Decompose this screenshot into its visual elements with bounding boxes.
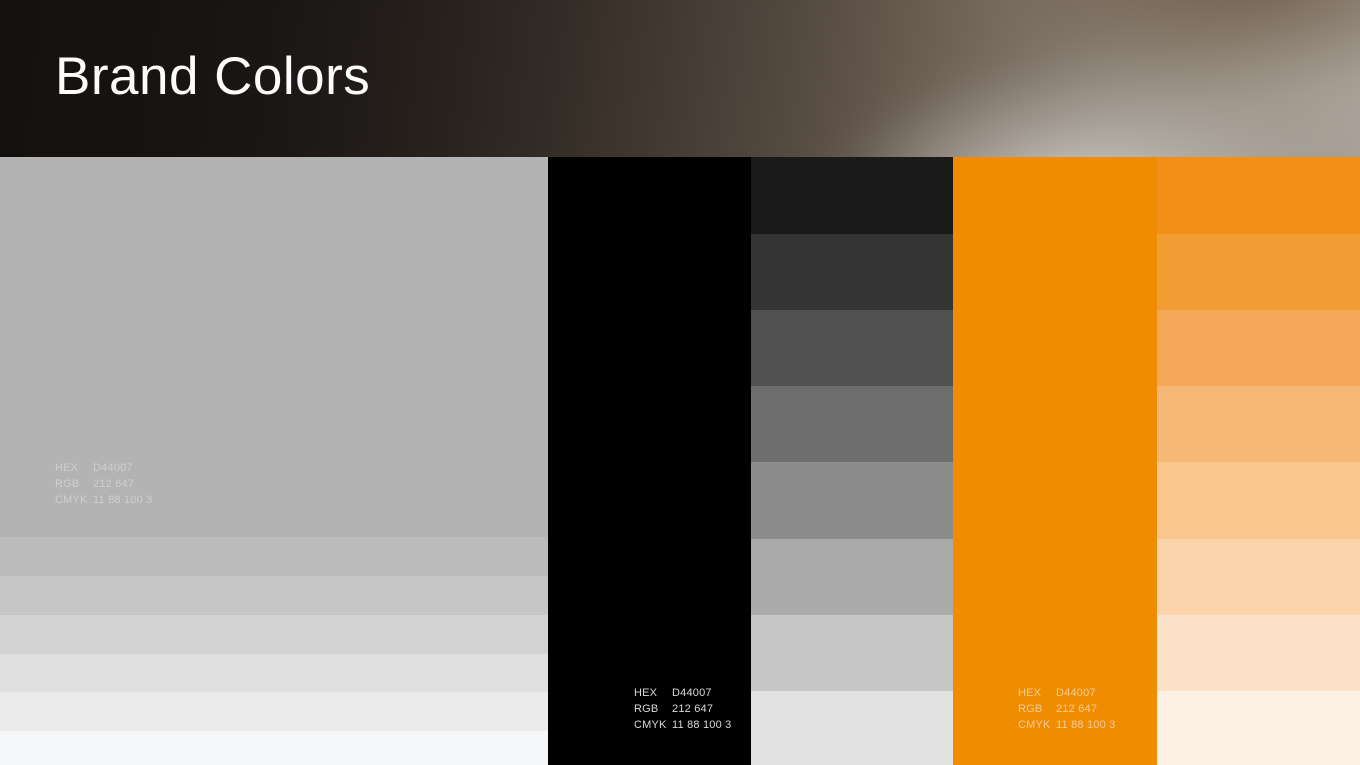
- rgb-label: RGB: [1018, 701, 1056, 717]
- rgb-value: 212 647: [1056, 701, 1097, 717]
- swatch-info-cmyk-row: CMYK 11 88 100 3: [634, 717, 732, 733]
- rgb-value: 212 647: [672, 701, 713, 717]
- cmyk-value: 11 88 100 3: [1056, 717, 1116, 733]
- swatch-band: [751, 691, 953, 765]
- hex-value: D44007: [672, 685, 712, 701]
- swatch-band: [751, 310, 953, 386]
- swatch-column-black: [548, 157, 751, 765]
- swatch-band: [953, 157, 1157, 765]
- hex-value: D44007: [93, 460, 133, 476]
- cmyk-label: CMYK: [55, 492, 93, 508]
- swatch-band: [0, 537, 548, 576]
- swatch-info-black: HEX D44007 RGB 212 647 CMYK 11 88 100 3: [634, 685, 732, 733]
- swatch-info-hex-row: HEX D44007: [1018, 685, 1116, 701]
- swatch-band: [0, 615, 548, 654]
- page-title: Brand Colors: [55, 50, 370, 103]
- swatch-band: [0, 731, 548, 765]
- swatch-column-orange-ramp: [1157, 157, 1360, 765]
- swatch-info-hex-row: HEX D44007: [634, 685, 732, 701]
- swatch-band: [0, 576, 548, 615]
- swatch-column-gray-ramp: [751, 157, 953, 765]
- cmyk-label: CMYK: [634, 717, 672, 733]
- swatch-band: [751, 615, 953, 691]
- swatch-info-hex-row: HEX D44007: [55, 460, 153, 476]
- hex-label: HEX: [1018, 685, 1056, 701]
- color-swatch-board: [0, 157, 1360, 765]
- swatch-band: [751, 157, 953, 234]
- swatch-band: [0, 654, 548, 692]
- swatch-info-cmyk-row: CMYK 11 88 100 3: [55, 492, 153, 508]
- cmyk-value: 11 88 100 3: [93, 492, 153, 508]
- hex-label: HEX: [634, 685, 672, 701]
- rgb-label: RGB: [55, 476, 93, 492]
- swatch-column-orange: [953, 157, 1157, 765]
- swatch-band: [1157, 539, 1360, 615]
- brand-colors-slide: Brand Colors HEX D44007 RGB 212 647 CMYK…: [0, 0, 1360, 765]
- swatch-info-rgb-row: RGB 212 647: [55, 476, 153, 492]
- swatch-band: [751, 386, 953, 462]
- rgb-label: RGB: [634, 701, 672, 717]
- swatch-band: [751, 539, 953, 615]
- swatch-band: [1157, 462, 1360, 539]
- swatch-band: [1157, 615, 1360, 691]
- hex-label: HEX: [55, 460, 93, 476]
- swatch-info-rgb-row: RGB 212 647: [634, 701, 732, 717]
- swatch-band: [548, 157, 751, 765]
- swatch-band: [1157, 234, 1360, 310]
- swatch-band: [1157, 691, 1360, 765]
- hex-value: D44007: [1056, 685, 1096, 701]
- swatch-band: [0, 692, 548, 731]
- slide-header: Brand Colors: [0, 0, 1360, 157]
- swatch-band: [1157, 310, 1360, 386]
- swatch-info-orange: HEX D44007 RGB 212 647 CMYK 11 88 100 3: [1018, 685, 1116, 733]
- swatch-info-rgb-row: RGB 212 647: [1018, 701, 1116, 717]
- swatch-info-gray: HEX D44007 RGB 212 647 CMYK 11 88 100 3: [55, 460, 153, 508]
- cmyk-label: CMYK: [1018, 717, 1056, 733]
- swatch-band: [751, 234, 953, 310]
- swatch-band: [1157, 386, 1360, 462]
- swatch-info-cmyk-row: CMYK 11 88 100 3: [1018, 717, 1116, 733]
- swatch-band: [751, 462, 953, 539]
- cmyk-value: 11 88 100 3: [672, 717, 732, 733]
- swatch-band: [1157, 157, 1360, 234]
- rgb-value: 212 647: [93, 476, 134, 492]
